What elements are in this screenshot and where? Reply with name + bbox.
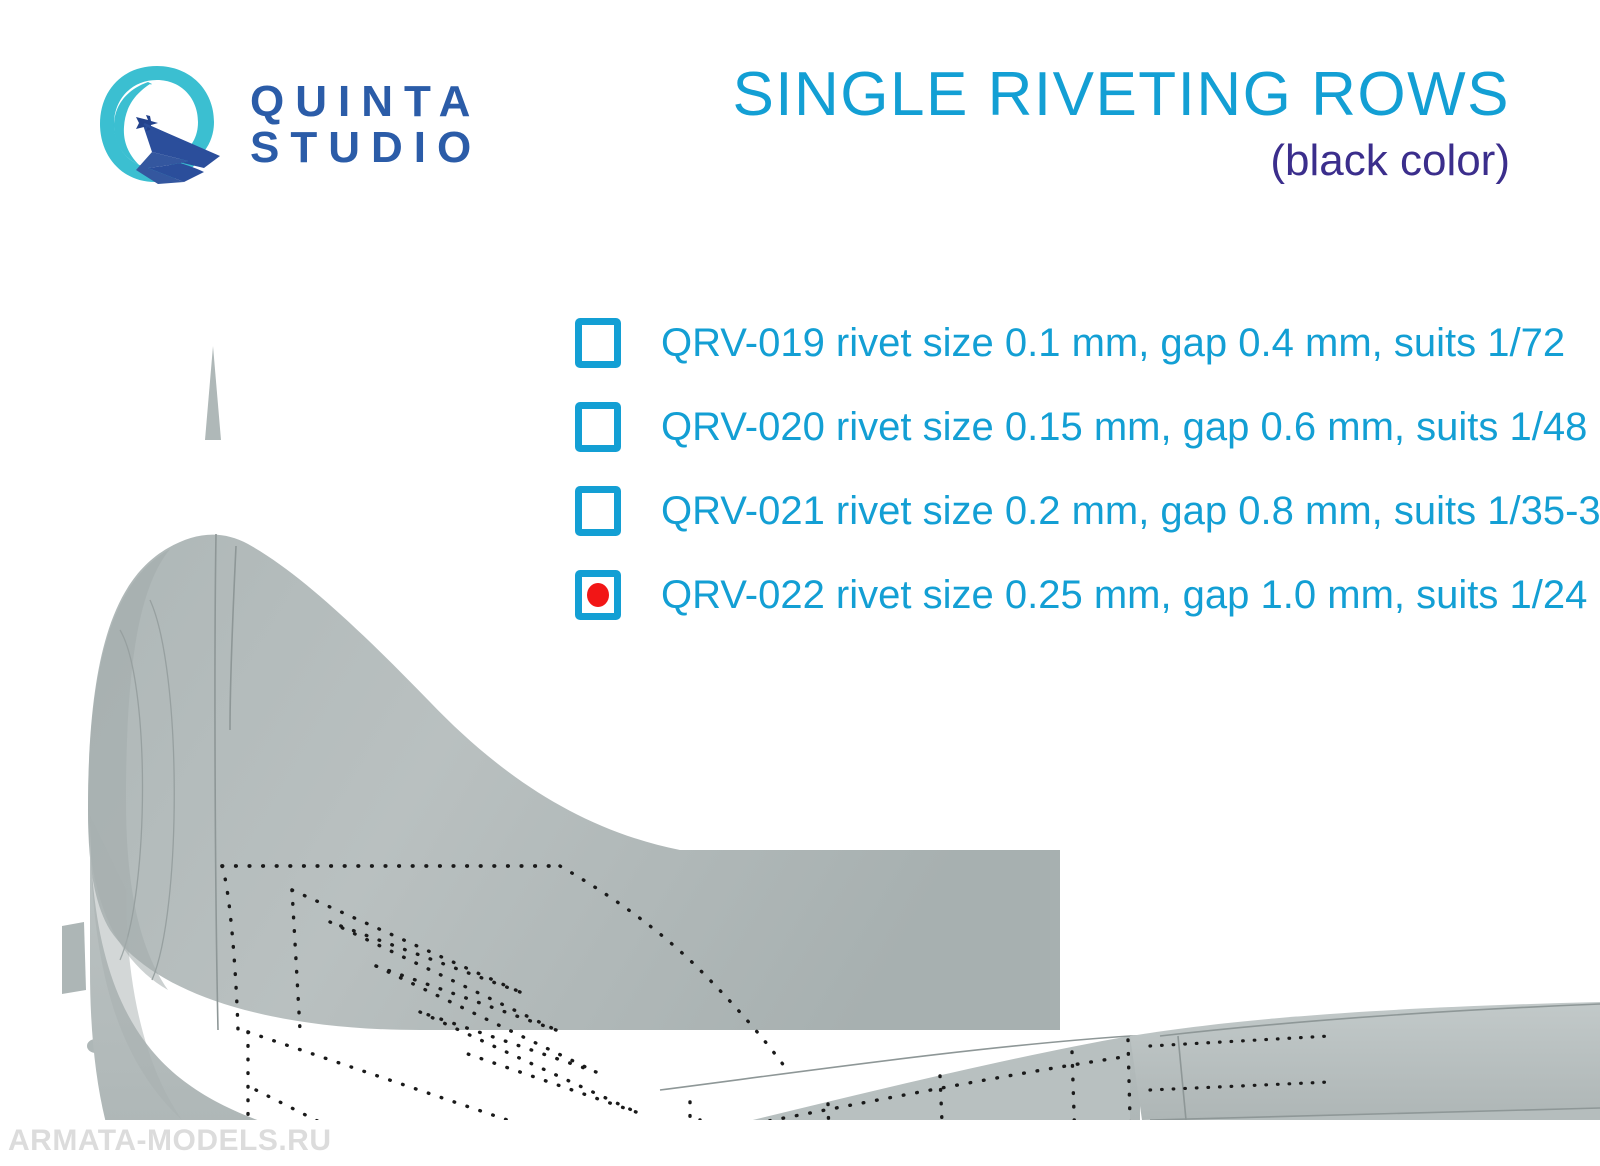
checkbox-empty-icon[interactable]	[575, 402, 621, 452]
checkbox-empty-icon[interactable]	[575, 318, 621, 368]
list-item[interactable]: QRV-021 rivet size 0.2 mm, gap 0.8 mm, s…	[575, 480, 1585, 542]
brand-name-line-2: STUDIO	[250, 125, 482, 171]
page-header: QUINTA STUDIO SINGLE RIVETING ROWS (blac…	[0, 0, 1600, 230]
product-options-list: QRV-019 rivet size 0.1 mm, gap 0.4 mm, s…	[575, 312, 1585, 648]
list-item[interactable]: QRV-020 rivet size 0.15 mm, gap 0.6 mm, …	[575, 396, 1585, 458]
list-item[interactable]: QRV-022 rivet size 0.25 mm, gap 1.0 mm, …	[575, 564, 1585, 626]
page-subtitle: (black color)	[732, 137, 1510, 185]
product-label: QRV-021 rivet size 0.2 mm, gap 0.8 mm, s…	[661, 491, 1600, 531]
horizontal-stabilizer	[1130, 1002, 1600, 1120]
product-label: QRV-019 rivet size 0.1 mm, gap 0.4 mm, s…	[661, 323, 1565, 363]
site-watermark: ARMATA-MODELS.RU	[8, 1124, 332, 1158]
selection-dot	[587, 583, 609, 607]
product-label: QRV-022 rivet size 0.25 mm, gap 1.0 mm, …	[661, 575, 1587, 615]
lower-fin-fairing	[248, 1032, 660, 1120]
checkbox-empty-icon[interactable]	[575, 486, 621, 536]
brand-wordmark: QUINTA STUDIO	[250, 79, 482, 171]
page-title: SINGLE RIVETING ROWS	[732, 62, 1510, 127]
product-label: QRV-020 rivet size 0.15 mm, gap 0.6 mm, …	[661, 407, 1587, 447]
brand-logo-block: QUINTA STUDIO	[92, 60, 482, 190]
checkbox-selected-icon[interactable]	[575, 570, 621, 620]
quinta-q-swoosh-jet-logo-icon	[92, 60, 222, 190]
list-item[interactable]: QRV-019 rivet size 0.1 mm, gap 0.4 mm, s…	[575, 312, 1585, 374]
title-block: SINGLE RIVETING ROWS (black color)	[732, 62, 1510, 185]
brand-name-line-1: QUINTA	[250, 79, 482, 125]
